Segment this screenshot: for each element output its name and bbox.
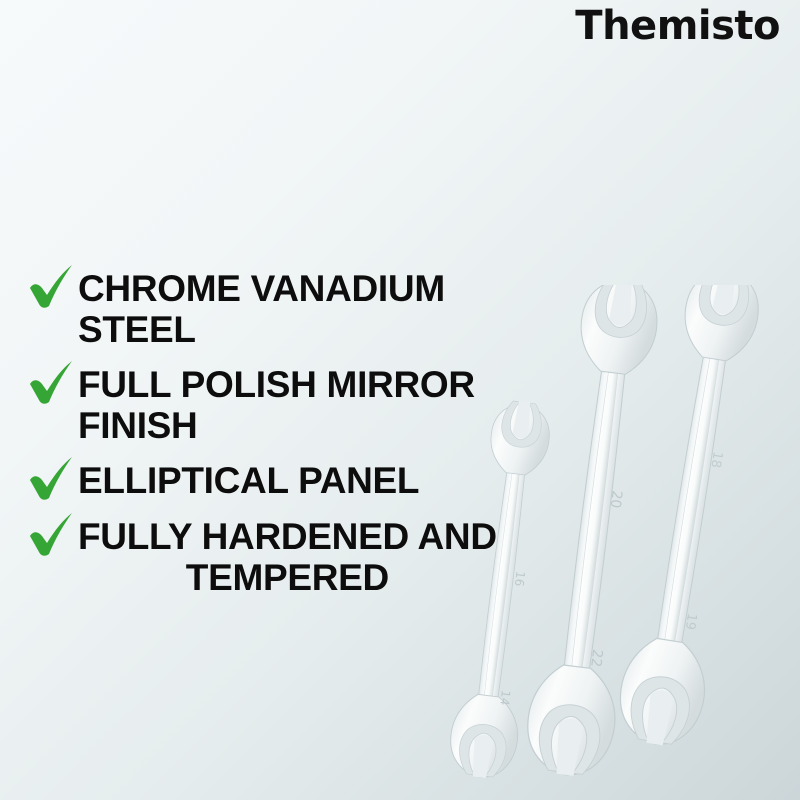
feature-item-3: ELLIPTICAL PANEL (26, 460, 566, 502)
feature-2-line2: FINISH (78, 405, 475, 446)
feature-1-line1: CHROME VANADIUM STEEL (78, 268, 445, 350)
feature-list: CHROME VANADIUM STEEL FULL POLISH MIRROR… (26, 268, 566, 612)
wrench-right-top-size: 18 (707, 450, 724, 469)
checkmark-icon (26, 360, 76, 406)
checkmark-icon (26, 456, 76, 502)
wrench-center-bottom-size: 22 (587, 648, 605, 668)
feature-item-4: FULLY HARDENED AND TEMPERED (26, 516, 566, 598)
feature-2-line1: FULL POLISH MIRROR (78, 364, 475, 405)
feature-text-3: ELLIPTICAL PANEL (78, 460, 419, 501)
feature-text-4: FULLY HARDENED AND TEMPERED (78, 516, 497, 598)
wrench-right-bottom-size: 19 (682, 612, 699, 631)
feature-item-2: FULL POLISH MIRROR FINISH (26, 364, 566, 446)
feature-text-2: FULL POLISH MIRROR FINISH (78, 364, 475, 446)
checkmark-icon (26, 264, 76, 310)
checkmark-icon (26, 512, 76, 558)
wrench-center-top-size: 20 (607, 489, 625, 509)
feature-4-line1: FULLY HARDENED AND (78, 516, 497, 557)
feature-item-1: CHROME VANADIUM STEEL (26, 268, 566, 350)
brand-logo: Themisto (575, 4, 780, 48)
feature-3-line1: ELLIPTICAL PANEL (78, 460, 419, 501)
feature-text-1: CHROME VANADIUM STEEL (78, 268, 566, 350)
product-feature-image: Themisto (0, 0, 800, 800)
feature-4-line2: TEMPERED (78, 557, 497, 598)
wrench-left-bottom-size: 14 (497, 689, 513, 706)
